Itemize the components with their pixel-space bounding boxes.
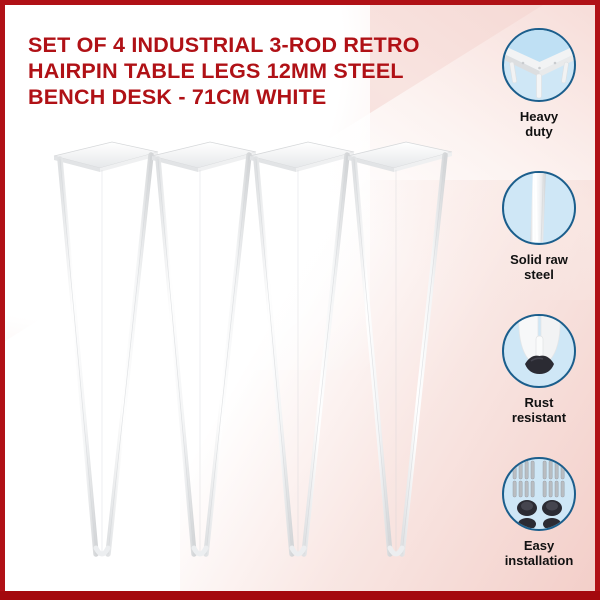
feature-label-line1: Easy bbox=[484, 538, 594, 553]
feature-label-line1: Heavy bbox=[484, 109, 594, 124]
feature-label-line2: steel bbox=[484, 267, 594, 282]
feature-badge-solid-raw-steel: Solid raw steel bbox=[484, 171, 594, 282]
feature-label-line2: duty bbox=[484, 124, 594, 139]
hairpin-leg bbox=[246, 130, 358, 560]
frame-border-bottom bbox=[0, 591, 600, 600]
feature-label-line1: Solid raw bbox=[484, 252, 594, 267]
feature-label-line2: resistant bbox=[484, 410, 594, 425]
feature-label: Easy installation bbox=[484, 538, 594, 568]
feature-label-line1: Rust bbox=[484, 395, 594, 410]
table-corner-icon bbox=[502, 28, 576, 102]
product-hairpin-legs bbox=[0, 130, 470, 570]
feature-label-line2: installation bbox=[484, 553, 594, 568]
screws-icon bbox=[502, 457, 576, 531]
hairpin-leg bbox=[148, 130, 260, 560]
frame-border-left bbox=[0, 0, 5, 600]
feature-badge-heavy-duty: Heavy duty bbox=[484, 28, 594, 139]
feature-badge-list: Heavy duty bbox=[484, 28, 594, 588]
rubber-foot-icon bbox=[502, 314, 576, 388]
feature-label: Rust resistant bbox=[484, 395, 594, 425]
hairpin-leg bbox=[50, 130, 162, 560]
feature-badge-easy-installation: Easy installation bbox=[484, 457, 594, 568]
feature-label: Solid raw steel bbox=[484, 252, 594, 282]
frame-border-right bbox=[595, 0, 600, 600]
product-image-canvas: Set of 4 Industrial 3-Rod Retro Hairpin … bbox=[0, 0, 600, 600]
frame-border-top bbox=[0, 0, 600, 5]
hairpin-leg bbox=[344, 130, 456, 560]
steel-rod-icon bbox=[502, 171, 576, 245]
feature-badge-rust-resistant: Rust resistant bbox=[484, 314, 594, 425]
page-title: Set of 4 Industrial 3-Rod Retro Hairpin … bbox=[28, 32, 458, 110]
feature-label: Heavy duty bbox=[484, 109, 594, 139]
